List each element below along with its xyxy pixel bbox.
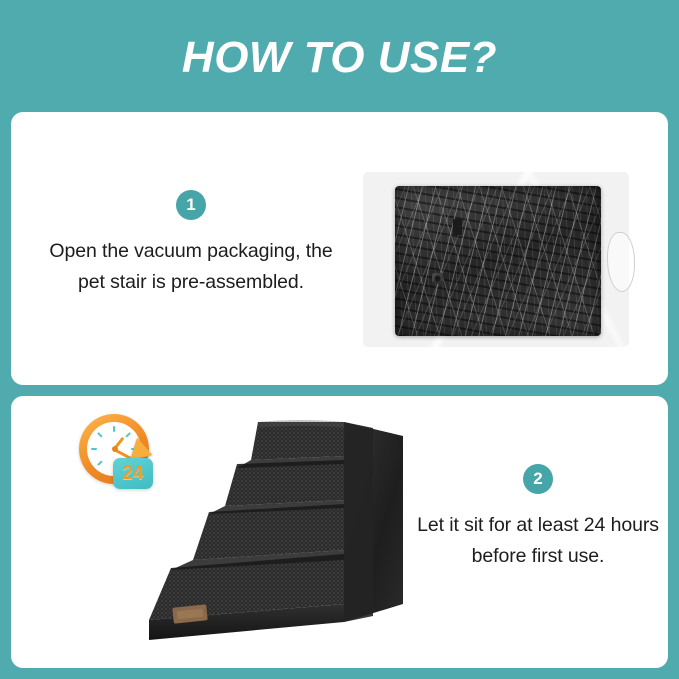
step-badge-1: 1 [176, 190, 206, 220]
page-title: HOW TO USE? [0, 32, 679, 84]
clock-center [112, 446, 118, 452]
step-2-description: Let it sit for at least 24 hours before … [393, 510, 668, 572]
pet-stairs-illustration [141, 408, 431, 653]
how-to-use-infographic: HOW TO USE? 1 Open the vacuum packaging,… [0, 0, 679, 679]
step-2-text-block: 2 Let it sit for at least 24 hours befor… [393, 464, 668, 572]
vacuum-packed-pet-stair-photo [351, 162, 641, 354]
compressed-foam-block [395, 186, 601, 336]
step-1-text-block: 1 Open the vacuum packaging, the pet sta… [41, 190, 341, 298]
step-1-description: Open the vacuum packaging, the pet stair… [41, 236, 341, 298]
plastic-wrap [363, 172, 629, 347]
step-badge-2: 2 [523, 464, 553, 494]
pet-stair-expanded-photo [141, 408, 431, 653]
step-card-1: 1 Open the vacuum packaging, the pet sta… [11, 112, 668, 385]
step-card-2: 24 [11, 396, 668, 668]
